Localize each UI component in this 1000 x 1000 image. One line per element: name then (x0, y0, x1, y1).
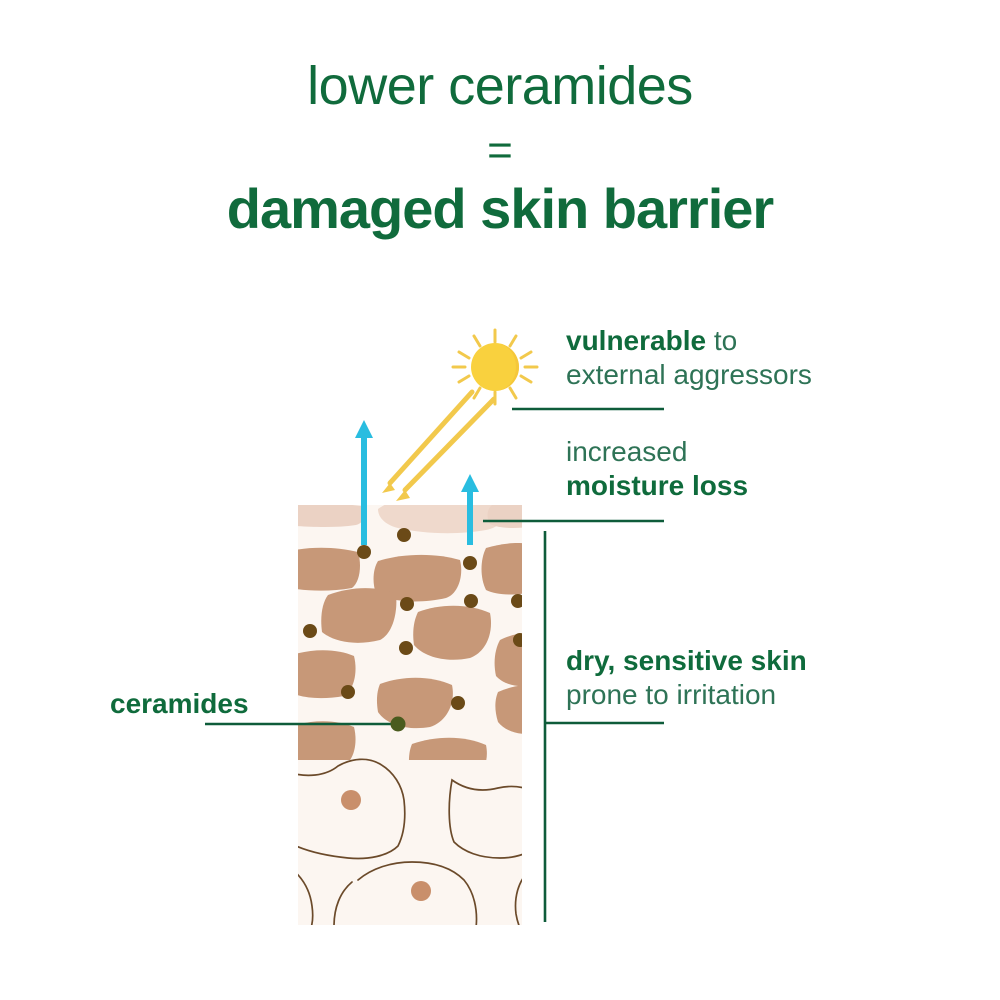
sun-icon (453, 330, 537, 404)
ceramides-leader-endpoint-dot (391, 717, 406, 732)
infographic-canvas: lower ceramides = damaged skin barrier v… (0, 0, 1000, 1000)
external-aggressor-arrows (382, 392, 494, 501)
skin-barrier-diagram (0, 0, 1000, 1000)
